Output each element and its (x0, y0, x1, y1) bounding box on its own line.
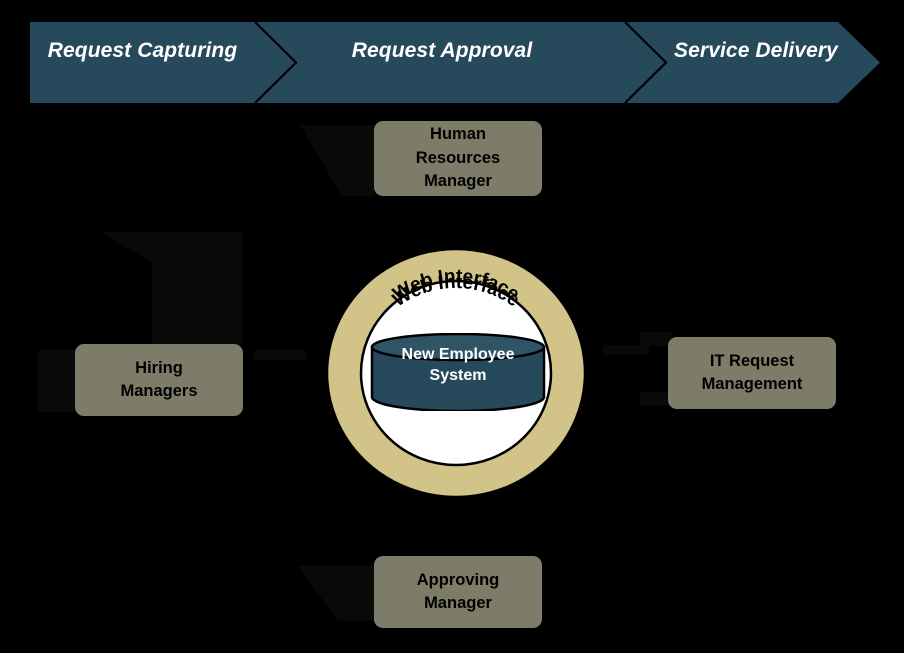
process-banner: Request Capturing Request Approval Servi… (0, 0, 904, 125)
banner-stage-request-approval[interactable]: Request Approval (262, 39, 622, 63)
role-box-hiring-managers[interactable]: HiringManagers (75, 344, 243, 416)
database-top (372, 334, 544, 360)
connector-stub-left (254, 350, 306, 360)
central-system: Web Interface Web Interface New Employee… (325, 248, 587, 498)
banner-stage-service-delivery[interactable]: Service Delivery (632, 39, 880, 63)
role-box-it-request-management[interactable]: IT RequestManagement (668, 337, 836, 409)
role-box-human-resources-manager[interactable]: HumanResourcesManager (374, 121, 542, 196)
banner-stage-request-capturing[interactable]: Request Capturing (30, 39, 255, 63)
database-cylinder (370, 333, 546, 411)
connector-stub-right (603, 345, 649, 355)
connector-arrow-hiring (100, 232, 243, 344)
connector-arrow-hiring-tail (38, 350, 78, 412)
connector-arrow-hr (300, 125, 374, 196)
connector-arrow-approving (298, 566, 374, 621)
role-box-approving-manager[interactable]: ApprovingManager (374, 556, 542, 628)
diagram-canvas: Request Capturing Request Approval Servi… (0, 0, 904, 653)
